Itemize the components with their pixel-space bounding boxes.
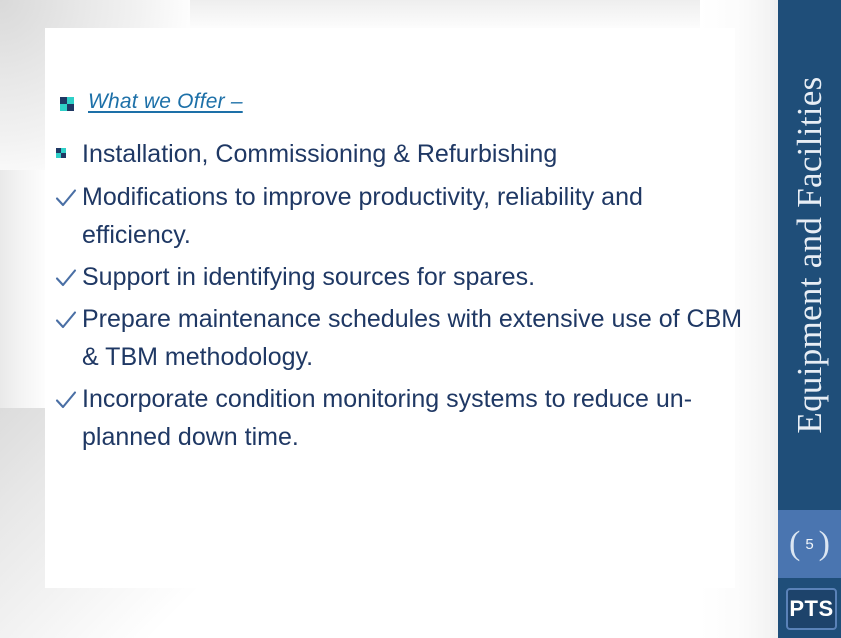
list-item-label: Modifications to improve productivity, r… [82,178,752,254]
check-icon [54,388,78,412]
list-item: Support in identifying sources for spare… [52,258,752,296]
list-item-label: Installation, Commissioning & Refurbishi… [82,140,557,168]
slide-canvas: What we Offer – Installation, Commission… [0,0,841,638]
slide-body: What we Offer – Installation, Commission… [52,90,752,460]
page-number-group: ( 5 ) [778,510,841,578]
pts-logo: PTS [786,588,837,630]
check-icon [54,308,78,332]
list-item: Installation, Commissioning & Refurbishi… [52,136,752,172]
heading-text: What we Offer – [88,90,243,113]
page-number: 5 [805,537,813,552]
logo-band: PTS [778,578,841,638]
checkerboard-square-bullet-icon [56,148,66,158]
right-sidebar: Equipment and Facilities ( 5 ) PTS [778,0,841,638]
bracket-left-icon: ( [789,527,800,561]
list-item: Modifications to improve productivity, r… [52,178,752,254]
sidebar-title: Equipment and Facilities [790,76,830,433]
check-icon [54,186,78,210]
checkerboard-square-bullet-icon [60,97,74,111]
list-item: Incorporate condition monitoring systems… [52,380,752,456]
list-item: Prepare maintenance schedules with exten… [52,300,752,376]
bracket-right-icon: ) [819,527,830,561]
list-item-label: Incorporate condition monitoring systems… [82,380,752,456]
heading-bullet-line: What we Offer – [52,90,752,120]
pts-logo-label: PTS [789,596,833,622]
check-icon [54,266,78,290]
background-gradient-left [0,0,50,638]
list-item-label: Support in identifying sources for spare… [82,258,752,296]
page-number-band: ( 5 ) [778,510,841,578]
sidebar-title-band: Equipment and Facilities [778,0,841,510]
list-item-label: Prepare maintenance schedules with exten… [82,300,752,376]
